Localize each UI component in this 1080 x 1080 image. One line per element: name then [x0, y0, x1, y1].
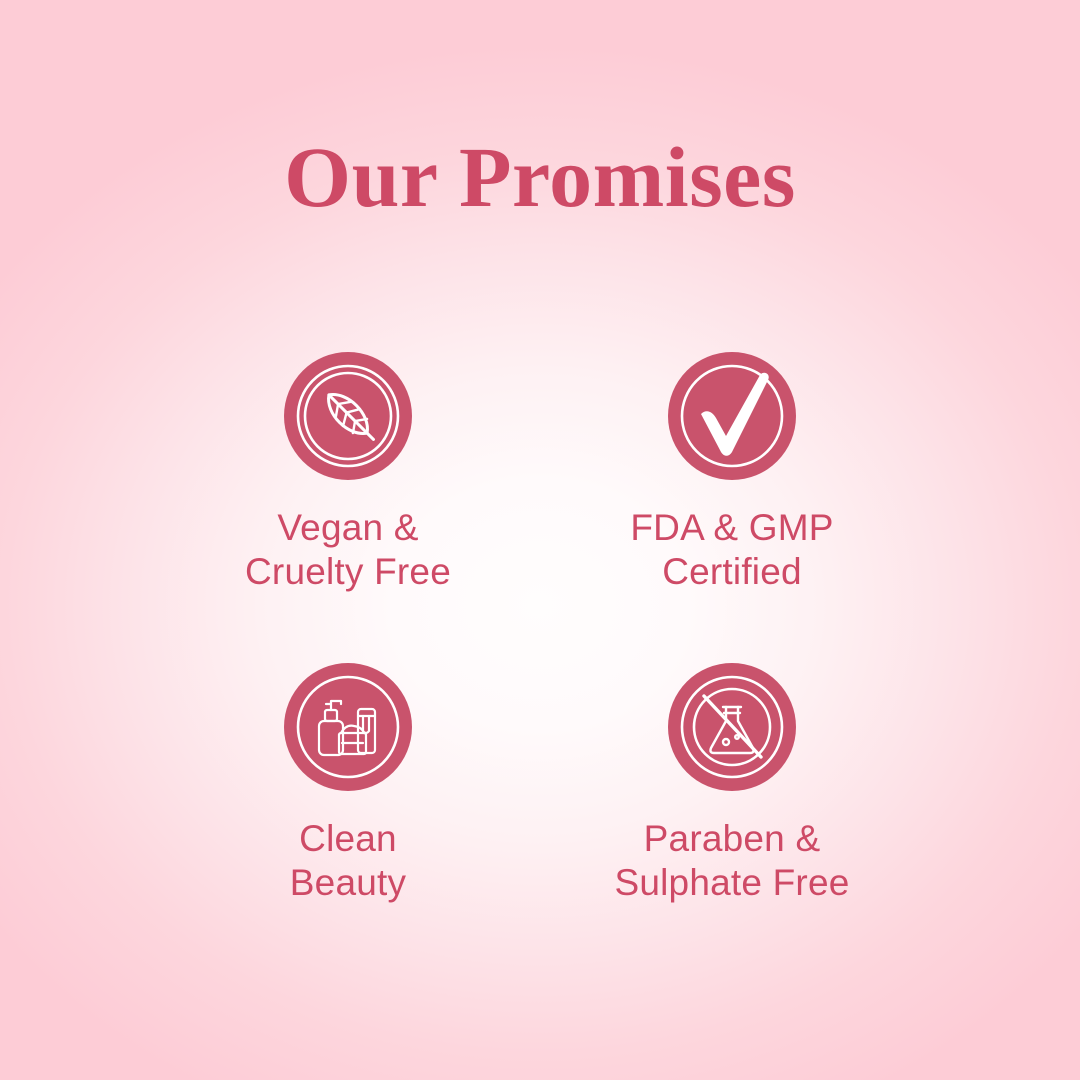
- promises-banner: Our Promises: [0, 0, 1080, 1080]
- promise-item-clean-beauty: Clean Beauty: [148, 663, 548, 904]
- promise-label-fda: FDA & GMP Certified: [630, 506, 833, 593]
- cosmetic-bottles-icon: [284, 663, 412, 791]
- checkmark-icon: [668, 352, 796, 480]
- promise-badge-clean-beauty: [284, 663, 412, 791]
- promise-badge-vegan: [284, 352, 412, 480]
- no-chemicals-flask-icon: [668, 663, 796, 791]
- promise-item-fda: FDA & GMP Certified: [532, 352, 932, 593]
- promise-badge-paraben-free: [668, 663, 796, 791]
- page-title: Our Promises: [0, 134, 1080, 220]
- promise-item-vegan: Vegan & Cruelty Free: [148, 352, 548, 593]
- promise-label-paraben-free: Paraben & Sulphate Free: [614, 817, 849, 904]
- promise-grid: Vegan & Cruelty Free FDA & GMP Certified: [140, 352, 940, 905]
- promise-label-vegan: Vegan & Cruelty Free: [245, 506, 451, 593]
- promise-item-paraben-free: Paraben & Sulphate Free: [532, 663, 932, 904]
- leaf-icon: [284, 352, 412, 480]
- promise-badge-fda: [668, 352, 796, 480]
- promise-label-clean-beauty: Clean Beauty: [290, 817, 406, 904]
